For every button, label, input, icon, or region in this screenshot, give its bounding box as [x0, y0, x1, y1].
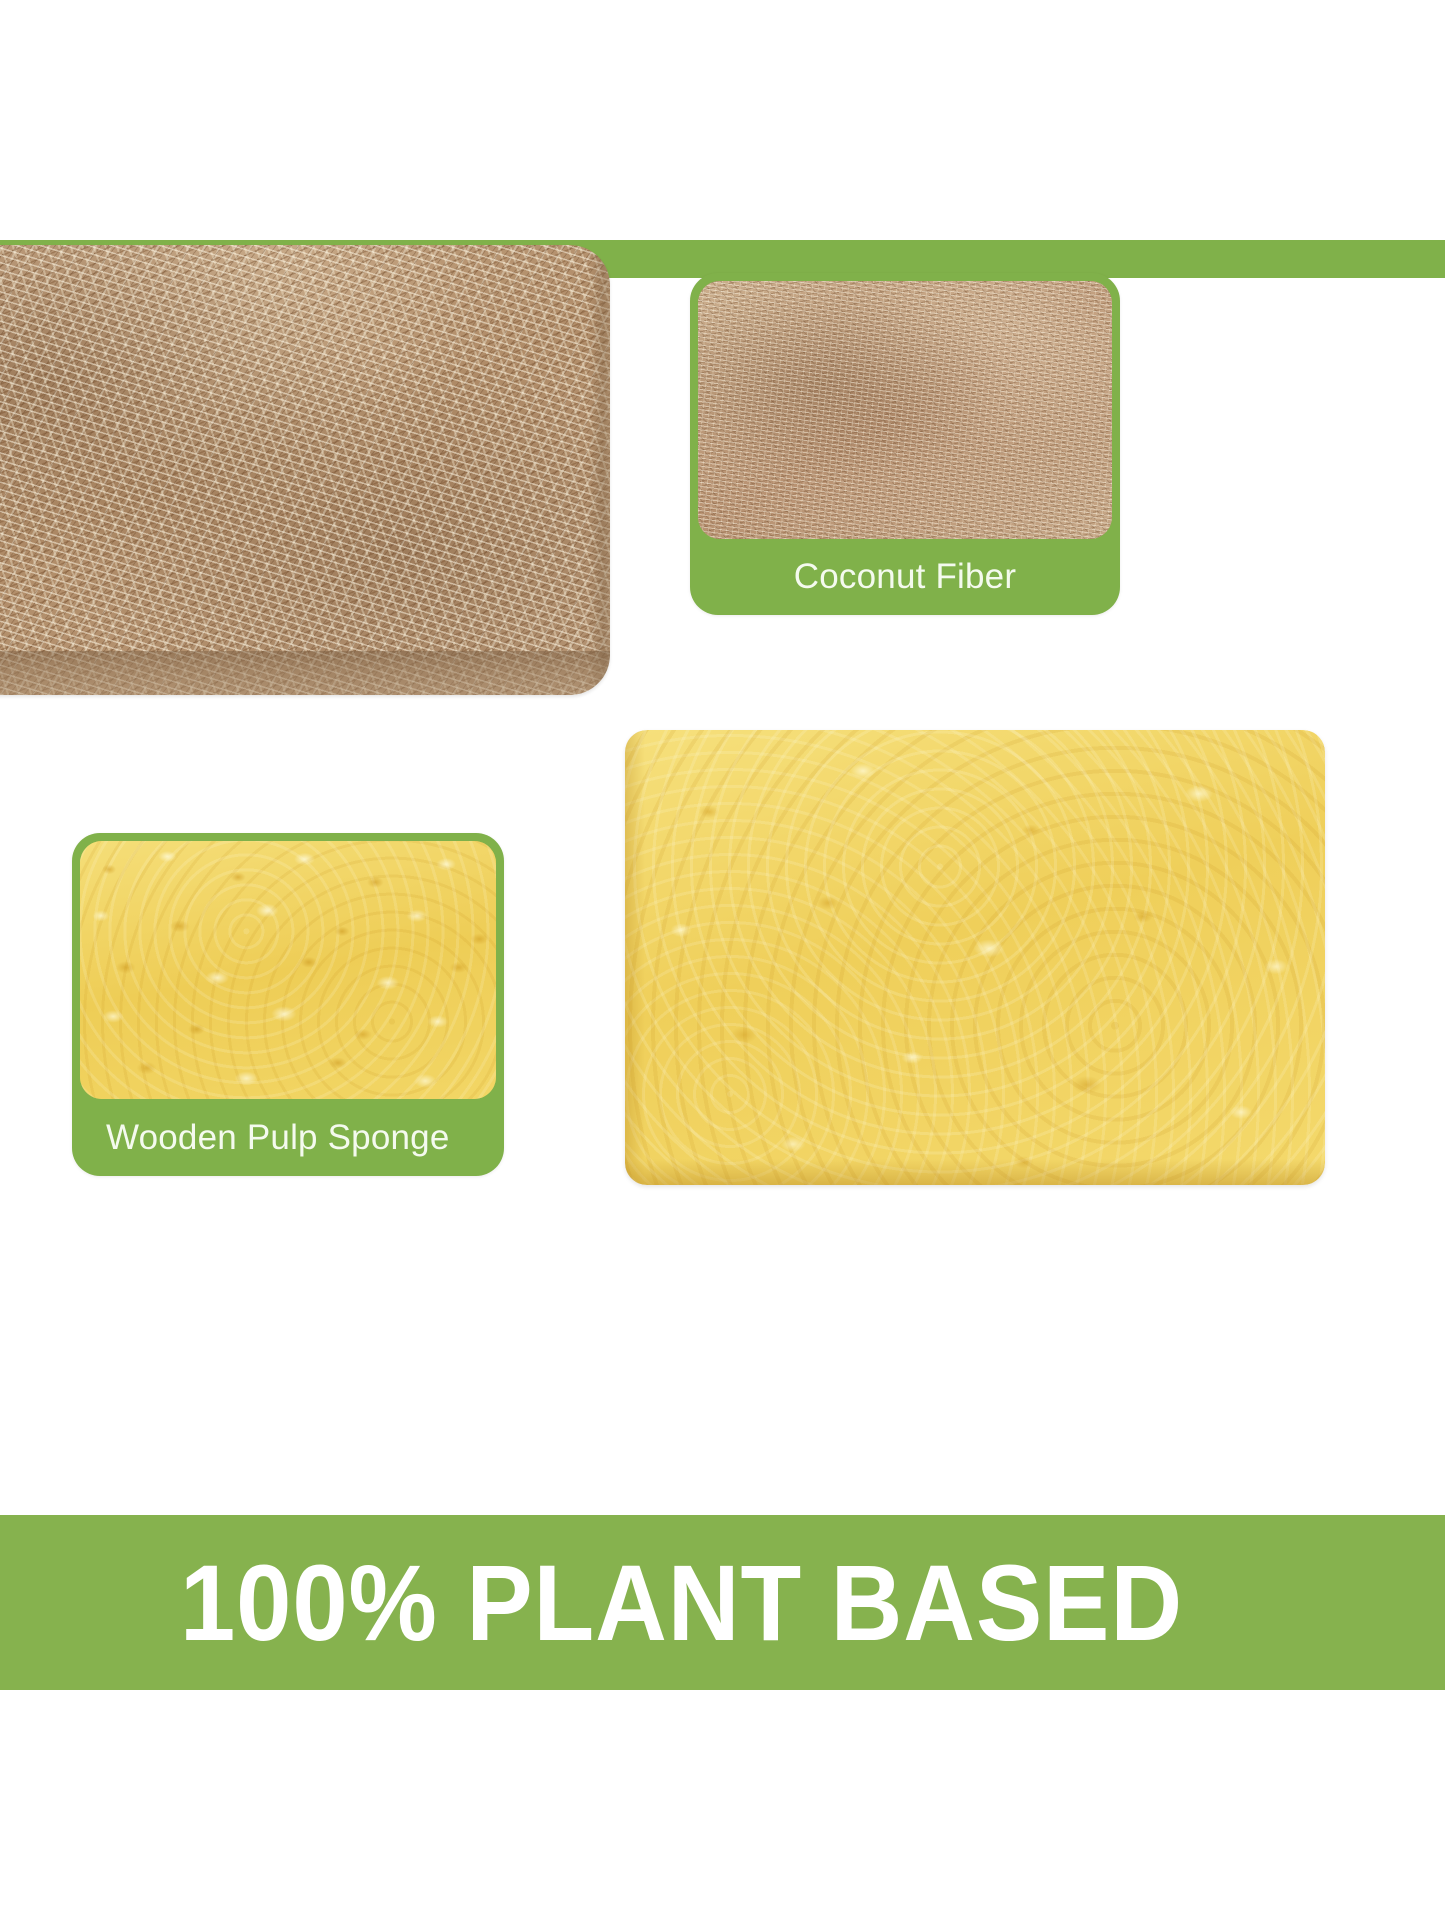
wooden-pulp-sponge-block: [625, 730, 1325, 1185]
coconut-fiber-caption: Coconut Fiber: [690, 539, 1120, 615]
coconut-coir-pad: [0, 245, 610, 695]
wooden-pulp-sponge-texture: [80, 841, 496, 1099]
coconut-fiber-thumbnail: [698, 281, 1112, 539]
banner-headline: 100% PLANT BASED: [180, 1549, 1183, 1657]
plant-based-banner: 100% PLANT BASED: [0, 1515, 1445, 1690]
sponge-block-surface: [625, 730, 1325, 1185]
wooden-pulp-sponge-thumbnail: [80, 841, 496, 1099]
material-card-coconut-fiber[interactable]: Coconut Fiber: [690, 273, 1120, 615]
infographic-canvas: Coconut Fiber Wooden Pulp Sponge 100% PL…: [0, 0, 1445, 1926]
coir-pad-right-edge: [588, 245, 610, 695]
wooden-pulp-sponge-caption: Wooden Pulp Sponge: [72, 1099, 504, 1176]
material-card-wooden-pulp-sponge[interactable]: Wooden Pulp Sponge: [72, 833, 504, 1176]
sponge-block-left-shade: [625, 730, 645, 1185]
sponge-block-bottom-shade: [625, 1159, 1325, 1185]
coir-pad-bottom-edge: [0, 651, 610, 695]
coir-pad-surface: [0, 245, 610, 695]
coconut-fiber-texture: [698, 281, 1112, 539]
